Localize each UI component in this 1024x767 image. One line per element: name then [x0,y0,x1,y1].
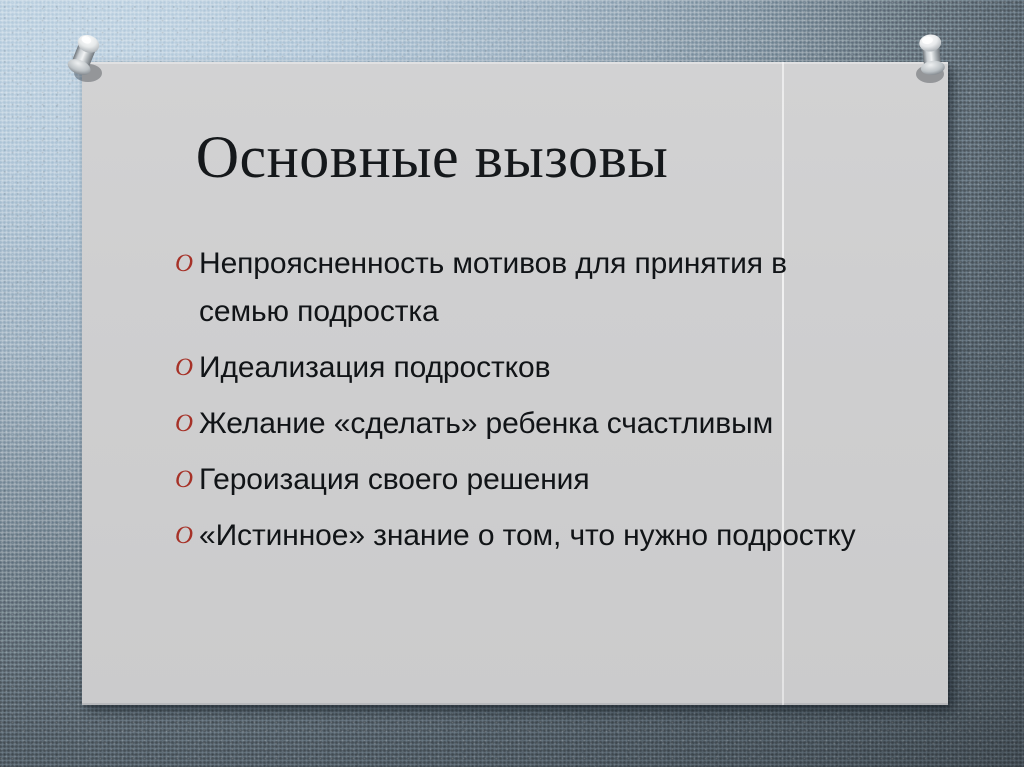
slide-title: Основные вызовы [82,127,782,187]
presentation-slide: Основные вызовы O Непроясненность мотиво… [0,0,1024,767]
list-item: O «Истинное» знание о том, что нужно под… [175,512,875,560]
slide-content-card: Основные вызовы O Непроясненность мотиво… [82,62,948,705]
list-item-text: Идеализация подростков [199,344,875,392]
bullet-marker-icon: O [175,456,199,504]
bullet-marker-icon: O [175,344,199,392]
list-item: O Героизация своего решения [175,456,875,504]
list-item-text: Непроясненность мотивов для принятия в с… [199,240,875,336]
list-item-text: Желание «сделать» ребенка счастливым [199,400,875,448]
list-item-text: «Истинное» знание о том, что нужно подро… [199,512,875,560]
bullet-list: O Непроясненность мотивов для принятия в… [175,240,875,568]
bullet-marker-icon: O [175,400,199,448]
list-item: O Идеализация подростков [175,344,875,392]
card-bottom-edge [82,703,948,705]
list-item: O Желание «сделать» ребенка счастливым [175,400,875,448]
list-item: O Непроясненность мотивов для принятия в… [175,240,875,336]
bullet-marker-icon: O [175,512,199,560]
card-top-highlight [82,62,948,64]
bullet-marker-icon: O [175,240,199,288]
list-item-text: Героизация своего решения [199,456,875,504]
